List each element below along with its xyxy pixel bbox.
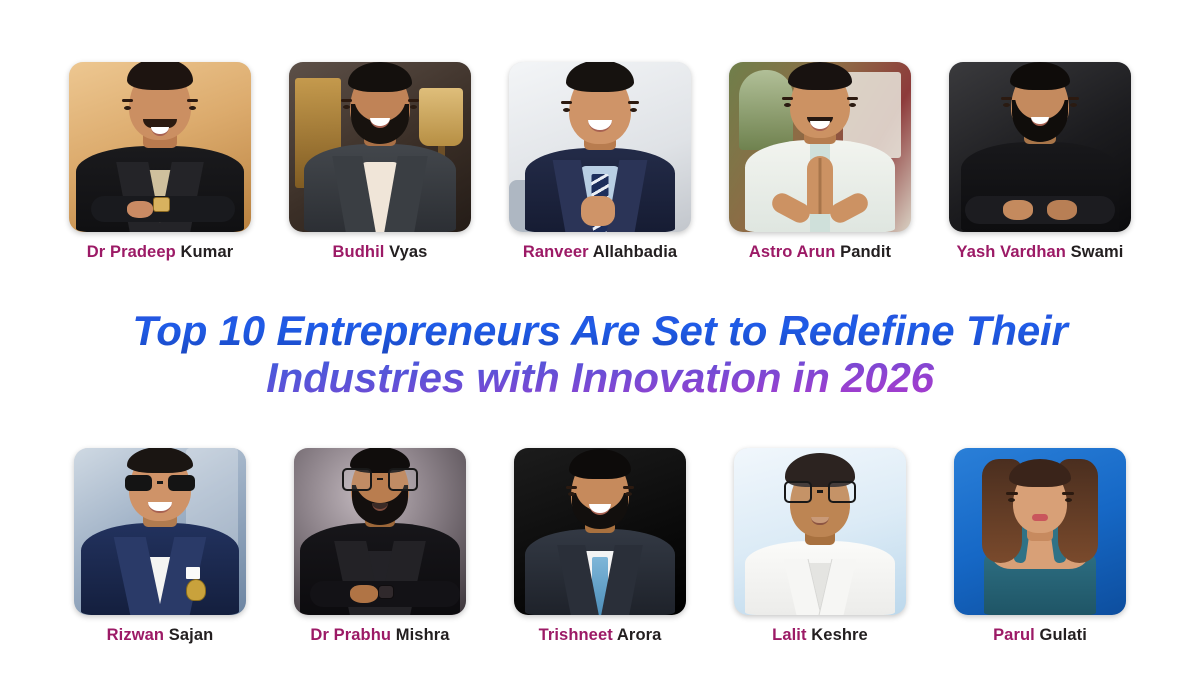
portrait-ranveer-allahbadia: [509, 62, 691, 232]
portrait-astro-arun-pandit: [729, 62, 911, 232]
name-first-part: Budhil: [333, 243, 385, 261]
entrepreneur-card-10[interactable]: Parul Gulati: [930, 448, 1150, 644]
name-last-part: Vyas: [389, 243, 427, 261]
poster-headline: Top 10 Entrepreneurs Are Set to Redefine…: [0, 307, 1200, 401]
name-last-part: Mishra: [396, 626, 450, 644]
entrepreneur-name-7: Dr Prabhu Mishra: [310, 627, 449, 644]
portrait-yash-vardhan-swami: [949, 62, 1131, 232]
portrait-budhil-vyas: [289, 62, 471, 232]
name-first-part: Rizwan: [107, 626, 164, 644]
portrait-pradeep-kumar: [69, 62, 251, 232]
entrepreneur-card-3[interactable]: Ranveer Allahbadia: [490, 62, 710, 261]
name-first-part: Dr Prabhu: [310, 626, 391, 644]
name-first-part: Trishneet: [539, 626, 613, 644]
portrait-trishneet-arora: [514, 448, 686, 615]
poster-canvas: Dr Pradeep Kumar: [0, 0, 1200, 675]
entrepreneur-name-4: Astro Arun Pandit: [749, 244, 891, 261]
entrepreneur-card-5[interactable]: Yash Vardhan Swami: [930, 62, 1150, 261]
entrepreneur-row-top: Dr Pradeep Kumar: [0, 0, 1200, 261]
entrepreneur-name-10: Parul Gulati: [993, 627, 1087, 644]
entrepreneur-card-9[interactable]: Lalit Keshre: [710, 448, 930, 644]
name-first-part: Ranveer: [523, 243, 589, 261]
name-last-part: Kumar: [180, 243, 233, 261]
entrepreneur-card-4[interactable]: Astro Arun Pandit: [710, 62, 930, 261]
name-last-part: Pandit: [840, 243, 891, 261]
headline-line-1: Top 10 Entrepreneurs Are Set to Redefine…: [10, 307, 1190, 354]
portrait-rizwan-sajan: [74, 448, 246, 615]
entrepreneur-card-6[interactable]: Rizwan Sajan: [50, 448, 270, 644]
entrepreneur-name-9: Lalit Keshre: [772, 627, 868, 644]
entrepreneur-name-2: Budhil Vyas: [333, 244, 428, 261]
portrait-parul-gulati: [954, 448, 1126, 615]
entrepreneur-card-2[interactable]: Budhil Vyas: [270, 62, 490, 261]
entrepreneur-name-1: Dr Pradeep Kumar: [87, 244, 234, 261]
name-last-part: Allahbadia: [593, 243, 677, 261]
entrepreneur-card-7[interactable]: Dr Prabhu Mishra: [270, 448, 490, 644]
headline-line-2: Industries with Innovation in 2026: [10, 354, 1190, 401]
entrepreneur-row-bottom: Rizwan Sajan: [0, 448, 1200, 675]
entrepreneur-name-3: Ranveer Allahbadia: [523, 244, 677, 261]
entrepreneur-name-8: Trishneet Arora: [539, 627, 662, 644]
entrepreneur-name-5: Yash Vardhan Swami: [957, 244, 1124, 261]
name-last-part: Gulati: [1040, 626, 1087, 644]
portrait-lalit-keshre: [734, 448, 906, 615]
entrepreneur-card-8[interactable]: Trishneet Arora: [490, 448, 710, 644]
portrait-dr-prabhu-mishra: [294, 448, 466, 615]
name-first-part: Astro Arun: [749, 243, 836, 261]
name-first-part: Dr Pradeep: [87, 243, 176, 261]
entrepreneur-name-6: Rizwan Sajan: [107, 627, 214, 644]
name-last-part: Swami: [1071, 243, 1124, 261]
name-last-part: Arora: [617, 626, 662, 644]
name-first-part: Lalit: [772, 626, 806, 644]
name-last-part: Sajan: [169, 626, 214, 644]
entrepreneur-card-1[interactable]: Dr Pradeep Kumar: [50, 62, 270, 261]
name-first-part: Yash Vardhan: [957, 243, 1066, 261]
name-last-part: Keshre: [811, 626, 868, 644]
name-first-part: Parul: [993, 626, 1035, 644]
